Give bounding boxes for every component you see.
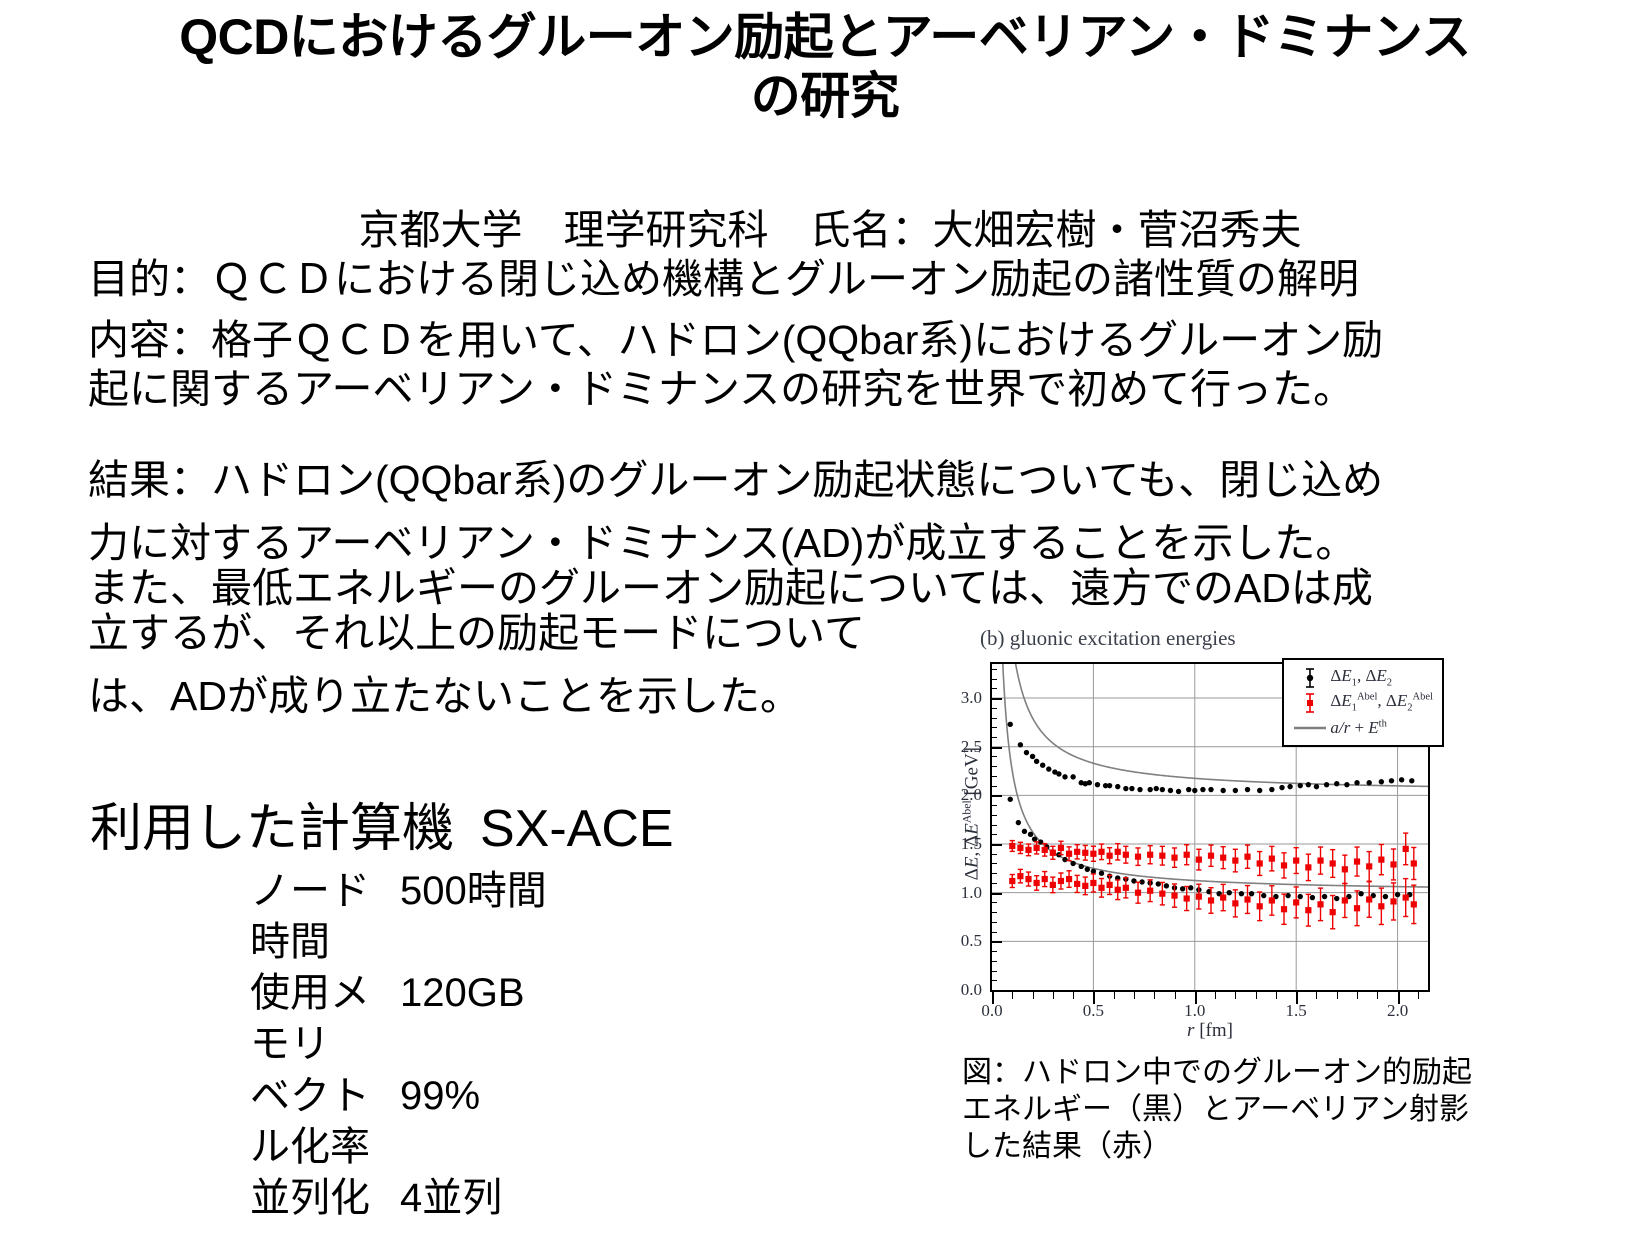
- y-axis-tick: [990, 679, 997, 680]
- chart-plot: ΔE, ΔEAbel [GeV] 0.00.51.01.52.02.53.00.…: [938, 652, 1450, 1048]
- legend-item-fit-curve: a/r + Eth: [1290, 715, 1433, 740]
- y-axis-tick: [990, 932, 997, 933]
- y-axis-tick-major: [990, 844, 1002, 846]
- x-tick-label: 0.0: [969, 1001, 1015, 1021]
- y-axis-tick: [990, 912, 997, 913]
- results-line-1: 結果：ハドロン(QQbar系)のグルーオン励起状態についても、閉じ込め: [88, 460, 1588, 501]
- x-tick-label: 0.5: [1070, 1001, 1116, 1021]
- y-axis-tick: [990, 883, 997, 884]
- page-title: QCDにおけるグルーオン励起とアーベリアン・ドミナンス の研究: [60, 8, 1590, 126]
- figure-caption-line-3: した結果（赤）: [962, 1128, 1502, 1165]
- y-axis-tick: [990, 854, 997, 855]
- black-errorbar-point-icon: [1290, 667, 1330, 689]
- y-tick-label: 1.0: [940, 883, 982, 903]
- spec-value-node-hours: 500時間: [400, 866, 547, 968]
- machine-heading-value: SX-ACE: [480, 800, 674, 860]
- y-tick-label: 2.5: [940, 737, 982, 757]
- y-axis-tick: [990, 873, 997, 874]
- y-axis-tick: [990, 834, 997, 835]
- x-axis-tick: [1316, 992, 1317, 999]
- gray-line-icon: [1290, 723, 1330, 733]
- chart-x-axis-label: r [fm]: [990, 1020, 1430, 1042]
- y-axis-tick-major: [990, 893, 1002, 895]
- y-tick-label: 2.0: [940, 785, 982, 805]
- y-axis-tick-major: [990, 698, 1002, 700]
- x-axis-tick: [1053, 992, 1054, 999]
- chart-legend: ΔE1, ΔE2 ΔE1Abel, ΔE2Abel: [1282, 658, 1444, 747]
- spec-row: 使用メモリ 120GB: [90, 968, 870, 1070]
- y-axis-tick: [990, 922, 997, 923]
- legend-item-deltaE: ΔE1, ΔE2: [1290, 665, 1433, 690]
- legend-label-deltaE: ΔE1, ΔE2: [1330, 666, 1392, 688]
- figure-caption-line-1: 図：ハドロン中でのグルーオン的励起: [962, 1054, 1502, 1091]
- x-axis-tick: [1073, 992, 1074, 999]
- x-axis-tick: [1377, 992, 1378, 999]
- contents-line-2: 起に関するアーベリアン・ドミナンスの研究を世界で初めて行った。: [88, 365, 1588, 414]
- purpose-text: 目的：ＱＣＤにおける閉じ込め機構とグルーオン励起の諸性質の解明: [88, 258, 1568, 301]
- page-title-line-2: の研究: [60, 67, 1590, 126]
- machine-heading: 利用した計算機 SX-ACE: [90, 800, 870, 860]
- spec-label-parallelization: 並列化: [90, 1173, 400, 1224]
- x-axis-tick: [1256, 992, 1257, 999]
- x-axis-tick: [1235, 992, 1236, 999]
- y-axis-tick: [990, 805, 997, 806]
- red-errorbar-square-icon: [1290, 692, 1330, 714]
- legend-label-deltaE-abel: ΔE1Abel, ΔE2Abel: [1330, 691, 1433, 713]
- y-axis-tick: [990, 766, 997, 767]
- x-axis-tick: [1337, 992, 1338, 999]
- spec-label-memory: 使用メモリ: [90, 968, 400, 1070]
- y-axis-tick: [990, 727, 997, 728]
- x-axis-tick: [1215, 992, 1216, 999]
- x-axis-tick: [1357, 992, 1358, 999]
- spec-label-node-hours: ノード時間: [90, 866, 400, 968]
- y-axis-tick: [990, 786, 997, 787]
- results-line-2: 力に対するアーベリアン・ドミナンス(AD)が成立することを示した。: [88, 523, 1588, 564]
- spec-value-vectorization: 99%: [400, 1071, 480, 1173]
- y-axis-tick-major: [990, 747, 1002, 749]
- x-axis-tick: [1276, 992, 1277, 999]
- figure-caption-line-2: エネルギー（黒）とアーベリアン射影: [962, 1091, 1502, 1128]
- y-axis-tick: [990, 718, 997, 719]
- y-axis-tick: [990, 688, 997, 689]
- results-line-4: 立するが、それ以上の励起モードについて: [88, 613, 1588, 654]
- figure-caption: 図：ハドロン中でのグルーオン的励起 エネルギー（黒）とアーベリアン射影 した結果…: [962, 1054, 1502, 1166]
- y-axis-tick: [990, 971, 997, 972]
- y-tick-label: 3.0: [940, 688, 982, 708]
- results-line-3: また、最低エネルギーのグルーオン励起については、遠方でのADは成: [88, 568, 1588, 609]
- spec-value-parallelization: 4並列: [400, 1173, 502, 1224]
- legend-label-fit-curve: a/r + Eth: [1330, 718, 1387, 738]
- affiliation-text: 京都大学 理学研究科 氏名：大畑宏樹・菅沼秀夫: [170, 210, 1490, 251]
- page-title-line-1: QCDにおけるグルーオン励起とアーベリアン・ドミナンス: [60, 8, 1590, 67]
- spec-row: ノード時間 500時間: [90, 866, 870, 968]
- chart-title: (b) gluonic excitation energies: [980, 626, 1236, 651]
- y-axis-tick: [990, 669, 997, 670]
- spec-value-memory: 120GB: [400, 968, 525, 1070]
- x-axis-tick: [1012, 992, 1013, 999]
- y-tick-label: 0.5: [940, 931, 982, 951]
- y-axis-tick: [990, 863, 997, 864]
- y-axis-tick: [990, 825, 997, 826]
- machine-spec-block: 利用した計算機 SX-ACE ノード時間 500時間 使用メモリ 120GB ベ…: [90, 800, 870, 1224]
- y-axis-tick-major: [990, 795, 1002, 797]
- contents-line-1: 内容：格子ＱＣＤを用いて、ハドロン(QQbar系)におけるグルーオン励: [88, 316, 1588, 365]
- y-axis-tick: [990, 951, 997, 952]
- y-axis-tick: [990, 776, 997, 777]
- x-axis-tick: [1114, 992, 1115, 999]
- y-axis-tick: [990, 737, 997, 738]
- x-tick-label: 1.5: [1273, 1001, 1319, 1021]
- y-axis-tick: [990, 708, 997, 709]
- y-axis-tick-major: [990, 941, 1002, 943]
- y-axis-tick: [990, 815, 997, 816]
- x-axis-tick: [1418, 992, 1419, 999]
- x-axis-tick: [1154, 992, 1155, 999]
- y-axis-tick: [990, 980, 997, 981]
- x-axis-tick: [1134, 992, 1135, 999]
- y-axis-tick: [990, 902, 997, 903]
- machine-heading-label: 利用した計算機: [90, 800, 480, 860]
- spec-row: 並列化 4並列: [90, 1173, 870, 1224]
- y-axis-tick: [990, 961, 997, 962]
- x-tick-label: 2.0: [1375, 1001, 1421, 1021]
- spec-row: ベクトル化率 99%: [90, 1071, 870, 1173]
- x-tick-label: 1.0: [1172, 1001, 1218, 1021]
- spec-label-vectorization: ベクトル化率: [90, 1071, 400, 1173]
- x-axis-tick: [1175, 992, 1176, 999]
- y-axis-tick: [990, 756, 997, 757]
- legend-item-deltaE-abel: ΔE1Abel, ΔE2Abel: [1290, 690, 1433, 715]
- y-tick-label: 1.5: [940, 834, 982, 854]
- y-tick-label: 0.0: [940, 980, 982, 1000]
- x-axis-tick: [1033, 992, 1034, 999]
- contents-text: 内容：格子ＱＣＤを用いて、ハドロン(QQbar系)におけるグルーオン励 起に関す…: [88, 316, 1588, 414]
